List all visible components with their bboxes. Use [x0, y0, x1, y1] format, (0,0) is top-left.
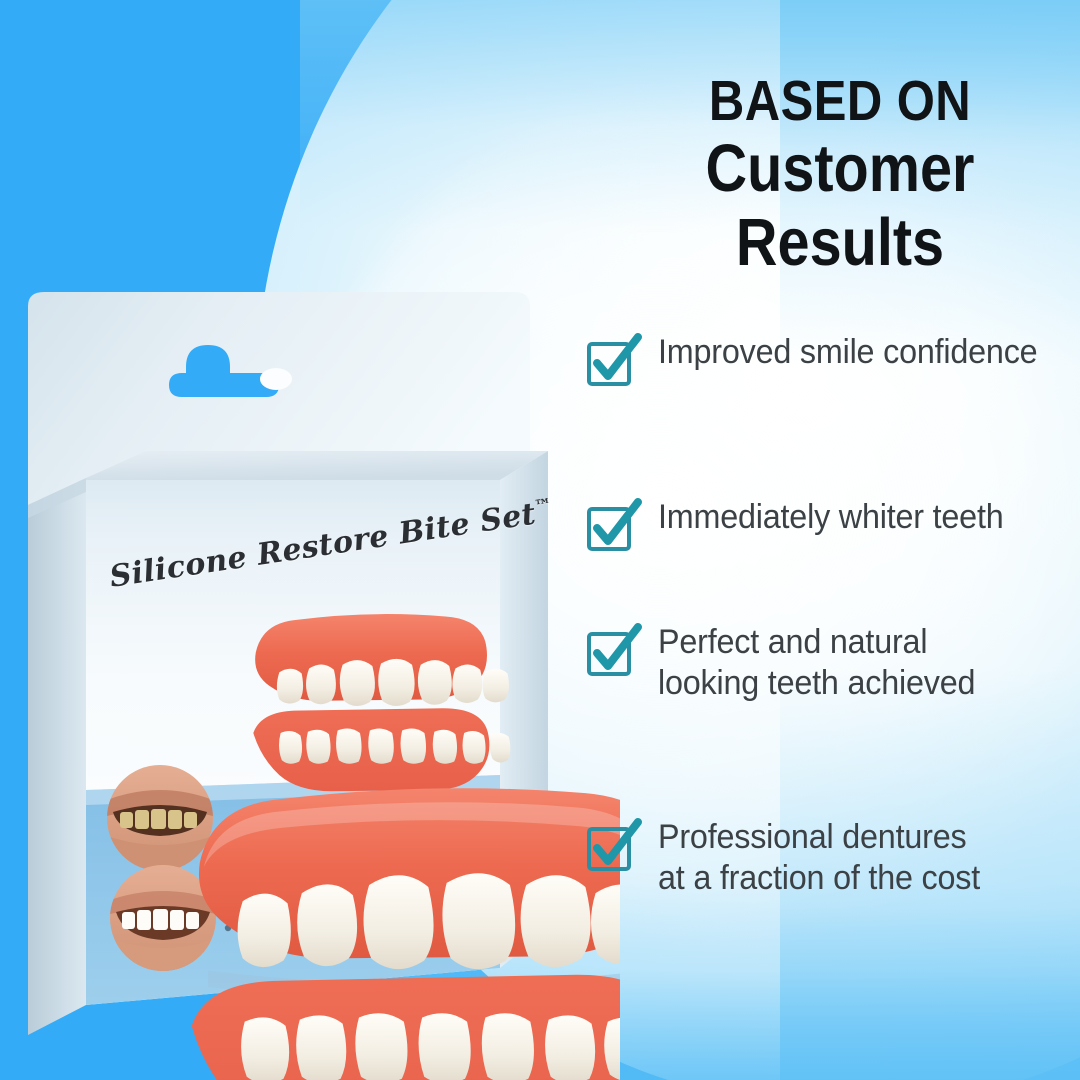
product-package: Silicone Restore Bite Set™	[0, 0, 620, 1080]
checkbox-checked-icon	[586, 624, 642, 676]
benefit-label: Improved smile confidence	[658, 332, 1037, 373]
page-title: BASED ON Customer Results	[600, 70, 1080, 280]
benefit-item-1: Improved smile confidence	[586, 332, 1057, 386]
trademark-symbol: ™	[533, 495, 553, 517]
benefit-item-4: Professional dentures at a fraction of t…	[586, 817, 997, 899]
benefit-label: Perfect and natural looking teeth achiev…	[658, 622, 975, 704]
checkbox-checked-icon	[586, 334, 642, 386]
headline-line-1: BASED ON	[634, 70, 1047, 132]
box-left-side	[28, 478, 86, 1035]
before-photo	[107, 765, 213, 871]
benefit-item-2: Immediately whiter teeth	[586, 497, 1022, 551]
headline-line-2: Customer Results	[634, 132, 1047, 280]
benefit-label: Immediately whiter teeth	[658, 497, 1004, 538]
checkbox-checked-icon	[586, 819, 642, 871]
checkbox-checked-icon	[586, 499, 642, 551]
benefit-label: Professional dentures at a fraction of t…	[658, 817, 980, 899]
benefit-item-3: Perfect and natural looking teeth achiev…	[586, 622, 992, 704]
box-top-face	[86, 451, 548, 480]
advertisement-canvas: Silicone Restore Bite Set™ BASED ON Cust…	[0, 0, 1080, 1080]
foreground-dentures	[192, 788, 620, 1080]
